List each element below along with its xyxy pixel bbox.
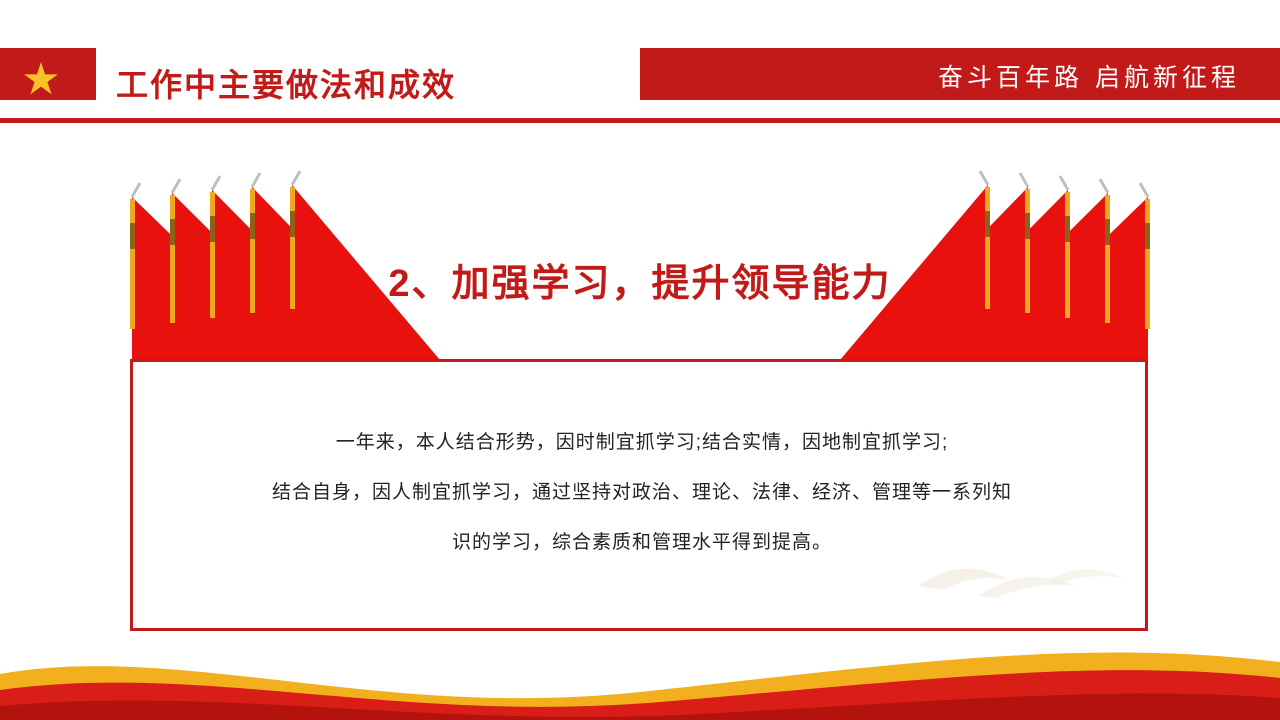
page-title: 工作中主要做法和成效	[116, 60, 456, 106]
content-line-1: 一年来，本人结合形势，因时制宜抓学习;结合实情，因地制宜抓学习;	[133, 418, 1151, 468]
bottom-ribbon-svg	[0, 628, 1280, 720]
slide-header: ★ 工作中主要做法和成效 奋斗百年路 启航新征程	[0, 0, 1280, 122]
bottom-ribbon	[0, 628, 1280, 720]
content-line-2: 结合自身，因人制宜抓学习，通过坚持对政治、理论、法律、经济、管理等一系列知	[133, 468, 1151, 518]
content-box: 一年来，本人结合形势，因时制宜抓学习;结合实情，因地制宜抓学习; 结合自身，因人…	[130, 359, 1148, 631]
dove-decoration-icon	[909, 546, 1129, 606]
header-underline	[0, 118, 1280, 123]
slide: ★ 工作中主要做法和成效 奋斗百年路 启航新征程	[0, 0, 1280, 720]
section-title: 2、加强学习，提升领导能力	[0, 252, 1280, 307]
star-icon: ★	[18, 58, 64, 102]
header-slogan: 奋斗百年路 启航新征程	[938, 58, 1240, 94]
